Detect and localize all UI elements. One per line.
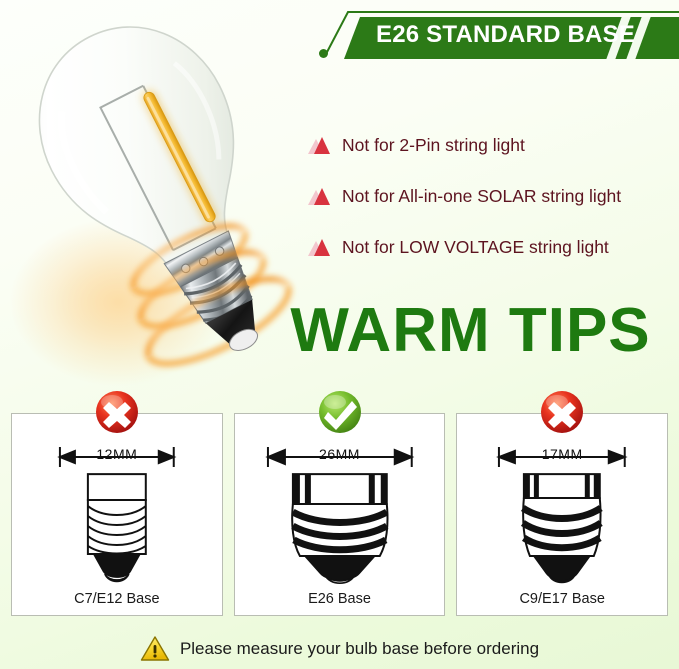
warning-triangle-icon xyxy=(308,187,334,207)
warning-triangle-icon xyxy=(308,136,334,156)
base-label-e26: E26 Base xyxy=(235,591,445,607)
warning-triangle-icon xyxy=(308,238,334,258)
base-diagram-c7e12 xyxy=(12,470,222,588)
dimension-label-c9e17: 17MM xyxy=(457,446,667,462)
red-cross-badge-icon xyxy=(538,388,586,436)
footer-note: Please measure your bulb base before ord… xyxy=(0,628,679,669)
base-card-c7e12: 12MM xyxy=(11,413,223,616)
base-card-c9e17: 17MM xyxy=(456,413,668,616)
red-cross-badge-icon xyxy=(93,388,141,436)
banner-title: E26 STANDARD BASE xyxy=(376,21,635,49)
dimension-label-c7e12: 12MM xyxy=(12,446,222,462)
green-check-badge-icon xyxy=(316,388,364,436)
yellow-warning-triangle-icon xyxy=(140,635,170,662)
base-diagram-e26 xyxy=(235,470,445,588)
warning-item-1-text: Not for 2-Pin string light xyxy=(342,135,525,156)
footer-text: Please measure your bulb base before ord… xyxy=(180,639,539,659)
base-label-c7e12: C7/E12 Base xyxy=(12,591,222,607)
warning-item-3: Not for LOW VOLTAGE string light xyxy=(308,222,679,273)
base-comparison-cards: 12MM xyxy=(11,413,668,616)
base-diagram-c9e17 xyxy=(457,470,667,588)
warning-item-2-text: Not for All-in-one SOLAR string light xyxy=(342,186,621,207)
base-card-e26: 26MM xyxy=(234,413,446,616)
banner-node-dot xyxy=(319,49,328,58)
warm-tips-heading: WARM TIPS xyxy=(262,298,679,364)
dimension-label-e26: 26MM xyxy=(235,446,445,462)
infographic-page: E26 STANDARD BASE Not for 2-Pin string l… xyxy=(0,0,679,669)
warning-item-3-text: Not for LOW VOLTAGE string light xyxy=(342,237,609,258)
warning-item-2: Not for All-in-one SOLAR string light xyxy=(308,171,679,222)
banner: E26 STANDARD BASE xyxy=(318,8,679,60)
base-label-c9e17: C9/E17 Base xyxy=(457,591,667,607)
warning-item-1: Not for 2-Pin string light xyxy=(308,120,679,171)
warning-list: Not for 2-Pin string light Not for All-i… xyxy=(308,120,679,273)
